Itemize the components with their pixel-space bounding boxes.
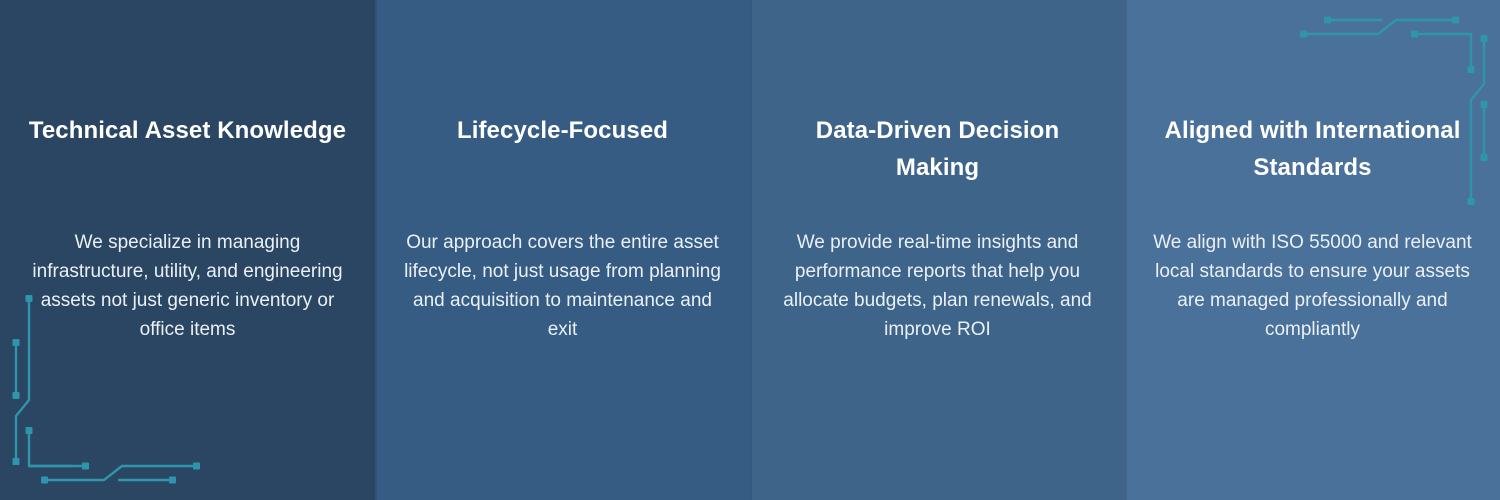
feature-panel-title: Lifecycle-Focused (401, 112, 724, 149)
feature-panel-aligned-with-international-standards: Aligned with International Standards We … (1125, 0, 1500, 500)
circuit-trace-decoration-icon (1280, 0, 1500, 220)
feature-panel-description: Our approach covers the entire asset lif… (399, 228, 726, 344)
feature-highlights-strip: Technical Asset Knowledge We specialize … (0, 0, 1500, 500)
feature-panel-title: Aligned with International Standards (1151, 112, 1474, 186)
feature-panel-data-driven-decision-making: Data-Driven Decision Making We provide r… (750, 0, 1125, 500)
feature-panel-title: Data-Driven Decision Making (776, 112, 1099, 186)
feature-panel-lifecycle-focused: Lifecycle-Focused Our approach covers th… (375, 0, 750, 500)
feature-panel-description: We specialize in managing infrastructure… (24, 228, 351, 344)
feature-panel-title: Technical Asset Knowledge (26, 112, 349, 149)
feature-panel-technical-asset-knowledge: Technical Asset Knowledge We specialize … (0, 0, 375, 500)
feature-panel-description: We align with ISO 55000 and relevant loc… (1149, 228, 1476, 344)
feature-panel-description: We provide real-time insights and perfor… (774, 228, 1101, 344)
